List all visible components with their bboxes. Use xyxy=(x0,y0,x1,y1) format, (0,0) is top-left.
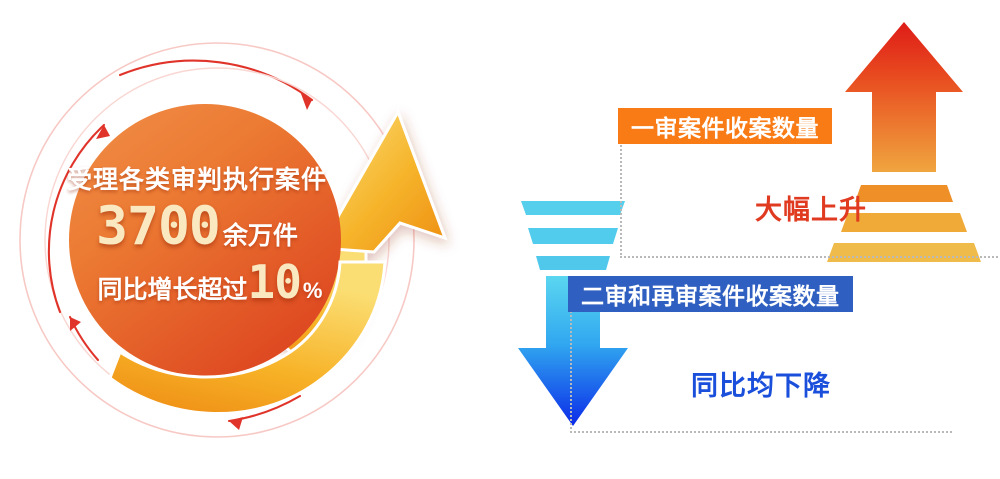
second-instance-card[interactable]: 二审和再审案件收案数量 同比均下降 xyxy=(570,278,952,433)
ring-arc-top xyxy=(120,61,312,100)
trend-cards-block: 一审案件收案数量 大幅上升 二审和再审案件收案数量 同比均下降 xyxy=(470,0,1000,479)
ring-arrowhead-top xyxy=(300,91,312,110)
first-instance-caption: 大幅上升 xyxy=(620,188,1000,227)
second-instance-caption: 同比均下降 xyxy=(570,364,1000,403)
circle-arrow-graphic xyxy=(0,0,470,479)
first-instance-card[interactable]: 一审案件收案数量 大幅上升 xyxy=(620,110,1000,258)
statistic-circle xyxy=(69,104,341,376)
down-trail-3 xyxy=(536,256,610,270)
infographic-canvas: 受理各类审判执行案件 3700 余万件 同比增长超过 10 % xyxy=(0,0,1000,479)
circle-statistic-block: 受理各类审判执行案件 3700 余万件 同比增长超过 10 % xyxy=(0,0,470,479)
second-instance-banner: 二审和再审案件收案数量 xyxy=(568,276,853,312)
down-trail-2 xyxy=(528,228,618,244)
down-trail-1 xyxy=(521,201,625,215)
first-instance-banner: 一审案件收案数量 xyxy=(618,108,832,144)
